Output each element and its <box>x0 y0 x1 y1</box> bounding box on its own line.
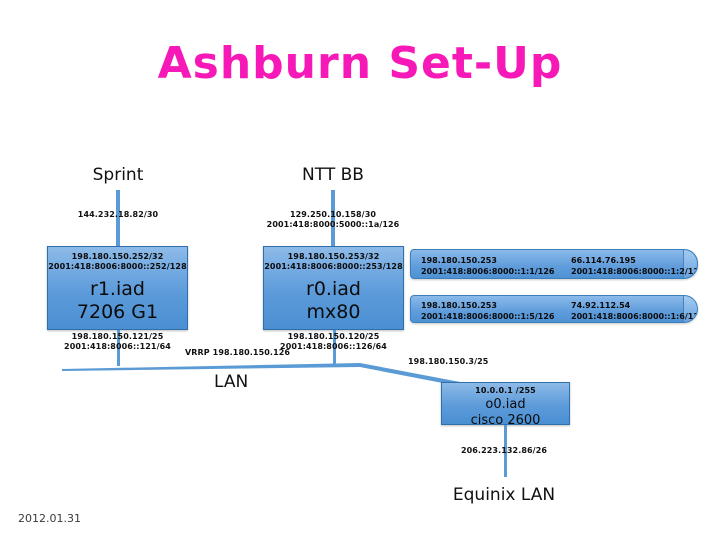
link-label-r1-lan-v4: 198.180.150.121/25 <box>47 332 188 343</box>
circuit-1-local-v4: 198.180.150.253 <box>421 255 497 266</box>
circuit-2-remote-v6: 2001:418:8006:8000::1:6/126 <box>571 311 698 322</box>
router-o0-loopback: 10.0.0.1 /255 <box>442 386 569 396</box>
lan-label: LAN <box>214 372 248 392</box>
circuit-2-local-v4: 198.180.150.253 <box>421 300 497 311</box>
router-o0-name: o0.iad <box>442 397 569 412</box>
router-r0-model: mx80 <box>264 301 403 323</box>
circuit-1-local-v6: 2001:418:8006:8000::1:1/126 <box>421 266 554 277</box>
link-label-sprint-ipv4: 144.232.18.82/30 <box>58 210 178 221</box>
circuit-1-remote-v4: 66.114.76.195 <box>571 255 636 266</box>
slide-date: 2012.01.31 <box>18 512 81 525</box>
router-r1-loopback-v6: 2001:418:8006:8000::252/128 <box>48 262 187 272</box>
circuit-1-remote-v6: 2001:418:8006:8000::1:2/126 <box>571 266 698 277</box>
slide-canvas: Ashburn Set-Up Sprint 144.232.18.82/30 N… <box>0 0 720 540</box>
lan-bus-line <box>0 344 720 404</box>
router-box-r1[interactable]: 198.180.150.252/32 2001:418:8006:8000::2… <box>47 246 188 330</box>
router-box-o0[interactable]: 10.0.0.1 /255 o0.iad cisco 2600 <box>441 382 570 425</box>
circuit-pill-2[interactable]: 198.180.150.253 2001:418:8006:8000::1:5/… <box>410 295 698 323</box>
cloud-label-ntt: NTT BB <box>273 165 393 185</box>
link-label-ntt-ipv6: 2001:418:8000:5000::1a/126 <box>263 220 403 231</box>
circuit-2-local-v6: 2001:418:8006:8000::1:5/126 <box>421 311 554 322</box>
link-label-o0-uplink: 198.180.150.3/25 <box>408 357 488 368</box>
router-r0-loopback-v6: 2001:418:8006:8000::253/128 <box>264 262 403 272</box>
router-r0-loopback-v4: 198.180.150.253/32 <box>264 252 403 262</box>
router-r1-model: 7206 G1 <box>48 301 187 323</box>
router-box-r0[interactable]: 198.180.150.253/32 2001:418:8006:8000::2… <box>263 246 404 330</box>
link-label-ntt-ipv4: 129.250.10.158/30 <box>263 210 403 221</box>
router-r1-name: r1.iad <box>48 278 187 300</box>
cloud-label-sprint: Sprint <box>58 165 178 185</box>
router-r1-loopback-v4: 198.180.150.252/32 <box>48 252 187 262</box>
circuit-2-remote-v4: 74.92.112.54 <box>571 300 630 311</box>
router-r0-name: r0.iad <box>264 278 403 300</box>
link-label-r0-lan-v4: 198.180.150.120/25 <box>263 332 404 343</box>
circuit-pill-1[interactable]: 198.180.150.253 2001:418:8006:8000::1:1/… <box>410 249 698 279</box>
page-title: Ashburn Set-Up <box>0 38 720 89</box>
router-o0-model: cisco 2600 <box>442 413 569 425</box>
link-label-equinix-ipv4: 206.223.132.86/26 <box>434 446 574 457</box>
cloud-label-equinix: Equinix LAN <box>434 485 574 505</box>
